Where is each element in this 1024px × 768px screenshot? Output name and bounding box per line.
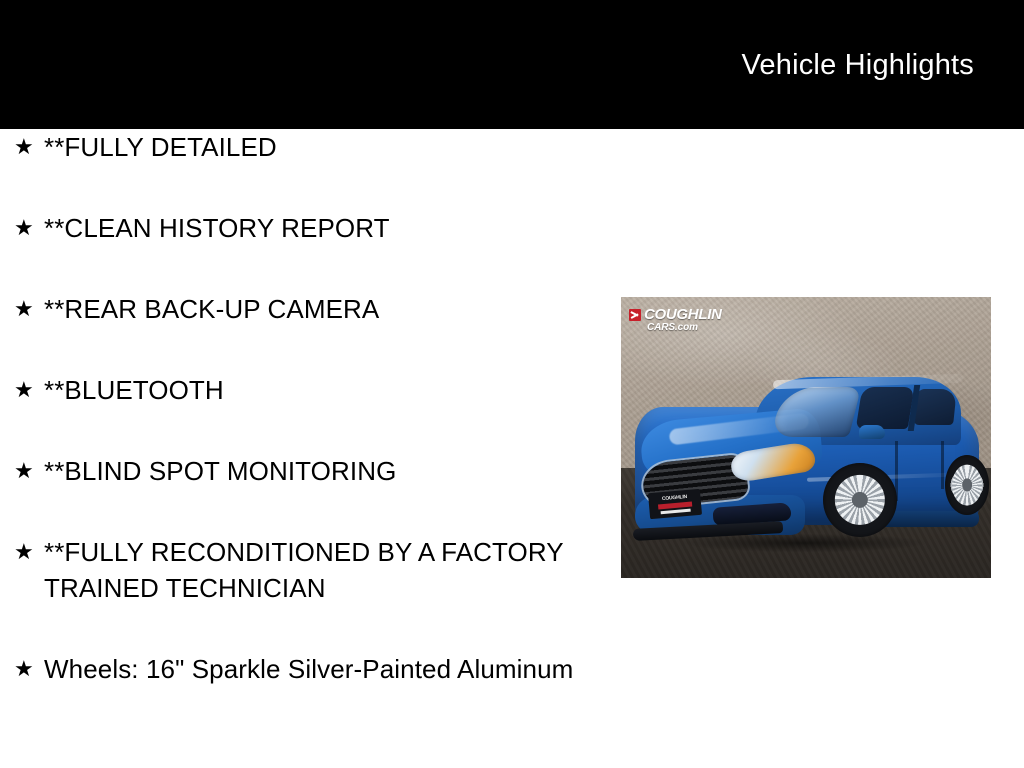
rear-wheel bbox=[945, 455, 989, 515]
star-icon: ★ bbox=[14, 372, 34, 408]
car-image: COUGHLIN bbox=[627, 363, 985, 558]
list-item-label: Wheels: 16" Sparkle Silver-Painted Alumi… bbox=[44, 651, 600, 687]
front-side-window bbox=[856, 387, 915, 429]
star-icon: ★ bbox=[14, 453, 34, 489]
dealer-watermark: COUGHLIN CARS.com bbox=[629, 307, 722, 334]
license-plate-strip bbox=[661, 509, 691, 515]
page-title: Vehicle Highlights bbox=[741, 48, 974, 82]
list-item-label: **FULLY DETAILED bbox=[44, 129, 600, 165]
vehicle-highlights-slide: Vehicle Highlights ★ **FULLY DETAILED ★ … bbox=[0, 0, 1024, 768]
list-item-label: **BLIND SPOT MONITORING bbox=[44, 453, 600, 489]
list-item: ★ **FULLY DETAILED bbox=[0, 129, 600, 165]
list-item: ★ **BLIND SPOT MONITORING bbox=[0, 453, 600, 489]
list-item: ★ **CLEAN HISTORY REPORT bbox=[0, 210, 600, 246]
rear-side-window bbox=[913, 389, 957, 425]
star-icon: ★ bbox=[14, 129, 34, 165]
coughlin-logo-icon bbox=[629, 309, 641, 321]
watermark-domain: CARS.com bbox=[647, 322, 698, 334]
rear-wheel-hub bbox=[962, 478, 972, 491]
side-mirror bbox=[859, 425, 885, 439]
list-item: ★ Wheels: 16" Sparkle Silver-Painted Alu… bbox=[0, 651, 600, 687]
star-icon: ★ bbox=[14, 291, 34, 327]
list-item-label: **FULLY RECONDITIONED BY A FACTORY TRAIN… bbox=[44, 534, 600, 606]
list-item-label: **CLEAN HISTORY REPORT bbox=[44, 210, 600, 246]
vehicle-photo: COUGHLIN CARS.com COU bbox=[621, 297, 991, 578]
door-seam-rear bbox=[941, 441, 944, 489]
star-icon: ★ bbox=[14, 534, 34, 570]
front-wheel bbox=[823, 463, 897, 537]
list-item-label: **REAR BACK-UP CAMERA bbox=[44, 291, 600, 327]
star-icon: ★ bbox=[14, 651, 34, 687]
vehicle-highlights-list: ★ **FULLY DETAILED ★ **CLEAN HISTORY REP… bbox=[0, 129, 600, 732]
watermark-top-row: COUGHLIN bbox=[629, 307, 722, 322]
license-plate: COUGHLIN bbox=[648, 489, 702, 519]
list-item: ★ **FULLY RECONDITIONED BY A FACTORY TRA… bbox=[0, 534, 600, 606]
header-band: Vehicle Highlights bbox=[0, 0, 1024, 129]
list-item: ★ **BLUETOOTH bbox=[0, 372, 600, 408]
list-item-label: **BLUETOOTH bbox=[44, 372, 600, 408]
list-item: ★ **REAR BACK-UP CAMERA bbox=[0, 291, 600, 327]
watermark-brand: COUGHLIN bbox=[644, 307, 722, 322]
license-plate-text: COUGHLIN bbox=[662, 494, 688, 502]
star-icon: ★ bbox=[14, 210, 34, 246]
